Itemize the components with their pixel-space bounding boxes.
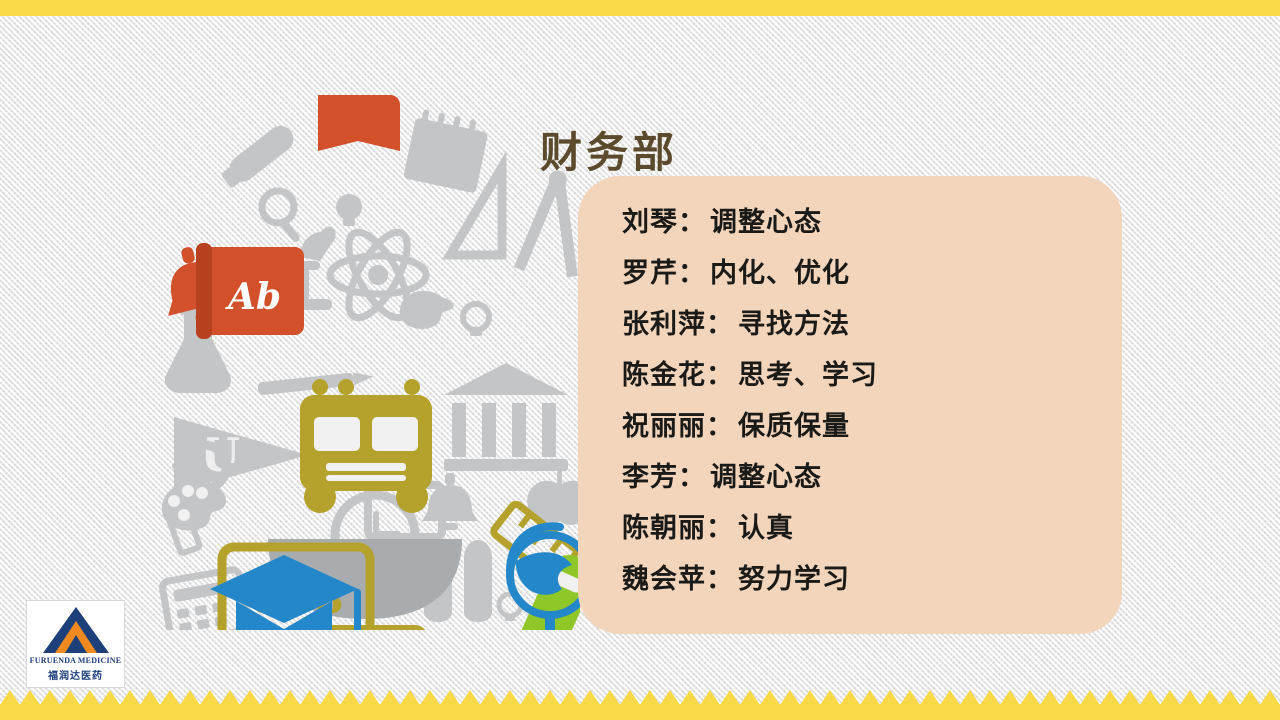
small-bulb-icon-b (463, 304, 489, 336)
member-note: 思考、学习 (738, 353, 878, 392)
member-separator: ： (706, 557, 734, 596)
small-bulb-icon-a (336, 194, 362, 226)
member-name: 祝丽丽 (622, 404, 706, 443)
list-item: 刘琴 ： 调整心态 (622, 200, 1102, 251)
top-band-solid (0, 0, 1280, 16)
bottom-band-teeth (0, 690, 1280, 705)
member-name: 张利萍 (622, 302, 706, 341)
member-separator: ： (678, 200, 706, 239)
test-tube-icon (218, 121, 299, 192)
list-item: 李芳 ： 调整心态 (622, 455, 1102, 506)
education-lightbulb-artwork: U (150, 85, 580, 630)
list-item: 祝丽丽 ： 保质保量 (622, 404, 1102, 455)
list-item: 罗芹 ： 内化、优化 (622, 251, 1102, 302)
magnifier-icon-a (262, 191, 301, 244)
book-icon-ab: Ab (196, 243, 304, 339)
member-separator: ： (706, 302, 734, 341)
member-note: 寻找方法 (738, 302, 850, 341)
palette-icon-a (400, 291, 454, 329)
member-name: 罗芹 (622, 251, 678, 290)
member-name: 李芳 (622, 455, 678, 494)
compass-icon (519, 167, 580, 277)
member-separator: ： (678, 455, 706, 494)
content-panel: 刘琴 ： 调整心态 罗芹 ： 内化、优化 张利萍 ： 寻找方法 陈金花 ： 思考… (578, 176, 1122, 634)
bottom-zigzag-border (0, 690, 1280, 720)
member-note: 调整心态 (710, 455, 822, 494)
member-name: 刘琴 (622, 200, 678, 239)
member-note: 内化、优化 (710, 251, 850, 290)
list-item: 张利萍 ： 寻找方法 (622, 302, 1102, 353)
company-logo: FURUENDA MEDICINE 福润达医药 (26, 600, 125, 688)
palette-icon-b (162, 480, 226, 530)
member-separator: ： (706, 506, 734, 545)
mountain-logo-icon (37, 605, 115, 655)
list-item: 魏会苹 ： 努力学习 (622, 557, 1102, 608)
member-list: 刘琴 ： 调整心态 罗芹 ： 内化、优化 张利萍 ： 寻找方法 陈金花 ： 思考… (622, 200, 1102, 608)
top-zigzag-border (0, 0, 1280, 30)
institution-icon (444, 363, 568, 471)
member-name: 陈金花 (622, 353, 706, 392)
member-note: 保质保量 (738, 404, 850, 443)
logo-english-text: FURUENDA MEDICINE (30, 656, 122, 665)
member-note: 努力学习 (738, 557, 850, 596)
member-note: 调整心态 (710, 200, 822, 239)
notepad-icon (403, 108, 490, 194)
top-band-teeth (0, 15, 1280, 30)
bottom-band-solid (0, 704, 1280, 720)
slide-canvas: U (0, 0, 1280, 720)
book-label: Ab (225, 276, 281, 318)
member-separator: ： (678, 251, 706, 290)
list-item: 陈金花 ： 思考、学习 (622, 353, 1102, 404)
member-separator: ： (706, 404, 734, 443)
flag-icon (318, 95, 400, 151)
list-item: 陈朝丽 ： 认真 (622, 506, 1102, 557)
logo-chinese-text: 福润达医药 (48, 667, 103, 682)
member-note: 认真 (738, 506, 794, 545)
member-name: 魏会苹 (622, 557, 706, 596)
member-name: 陈朝丽 (622, 506, 706, 545)
page-title: 财务部 (540, 119, 678, 180)
member-separator: ： (706, 353, 734, 392)
